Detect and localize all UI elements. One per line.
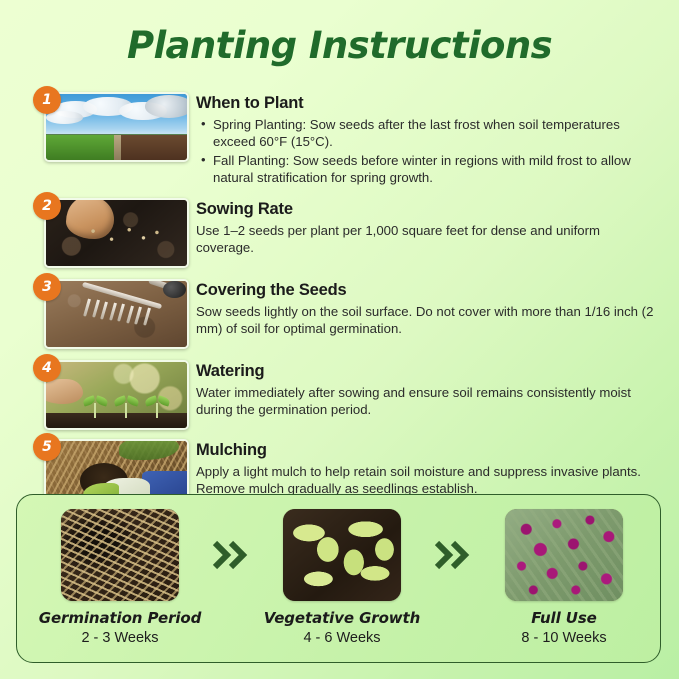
rake-on-soil-photo — [46, 281, 187, 347]
step-number-badge-3: 3 — [33, 273, 61, 301]
step-number-badge-1: 1 — [33, 86, 61, 114]
step-3-thumbnail-wrap: 3 — [44, 279, 196, 349]
step-number-badge-5: 5 — [33, 433, 61, 461]
timeline-stage-2: Vegetative Growth 4 - 6 Weeks — [257, 509, 427, 646]
step-1-text: When to Plant Spring Planting: Sow seeds… — [196, 92, 679, 188]
stage-1-duration: 2 - 3 Weeks — [35, 630, 205, 646]
step-item-1: 1 When t — [0, 92, 679, 188]
step-3-heading: Covering the Seeds — [196, 281, 657, 300]
step-item-3: 3 — [0, 279, 679, 349]
step-1-thumbnail-wrap: 1 — [44, 92, 196, 162]
step-1-image — [44, 92, 189, 162]
stage-2-image — [283, 509, 401, 601]
stage-3-duration: 8 - 10 Weeks — [479, 630, 649, 646]
page-title: Planting Instructions — [0, 24, 679, 67]
double-chevron-right-icon — [213, 539, 249, 571]
step-5-heading: Mulching — [196, 441, 657, 460]
step-item-2: 2 Sowing Rate Use 1–2 seeds per plant pe… — [0, 198, 679, 268]
step-4-thumbnail-wrap: 4 — [44, 360, 196, 430]
stage-1-label: Germination Period — [35, 609, 205, 627]
timeline-arrow-2 — [427, 509, 479, 601]
step-4-image — [44, 360, 189, 430]
step-3-image — [44, 279, 189, 349]
step-2-thumbnail-wrap: 2 — [44, 198, 196, 268]
stage-3-image — [505, 509, 623, 601]
step-1-bullets: Spring Planting: Sow seeds after the las… — [196, 116, 657, 187]
purple-flowers-photo — [505, 509, 623, 601]
step-2-heading: Sowing Rate — [196, 200, 657, 219]
stage-3-label: Full Use — [479, 609, 649, 627]
stage-2-label: Vegetative Growth — [257, 609, 427, 627]
step-5-body: Apply a light mulch to help retain soil … — [196, 463, 657, 498]
watering-seedlings-photo — [46, 362, 187, 428]
step-3-body: Sow seeds lightly on the soil surface. D… — [196, 303, 657, 338]
stage-1-image — [61, 509, 179, 601]
step-2-body: Use 1–2 seeds per plant per 1,000 square… — [196, 222, 657, 257]
step-4-heading: Watering — [196, 362, 657, 381]
stage-2-duration: 4 - 6 Weeks — [257, 630, 427, 646]
step-2-text: Sowing Rate Use 1–2 seeds per plant per … — [196, 198, 679, 257]
timeline-arrow-1 — [205, 509, 257, 601]
step-4-text: Watering Water immediately after sowing … — [196, 360, 679, 419]
step-3-text: Covering the Seeds Sow seeds lightly on … — [196, 279, 679, 338]
steps-list: 1 When t — [0, 92, 679, 509]
seedbed-mulch-photo — [61, 509, 179, 601]
bullet-item: Fall Planting: Sow seeds before winter i… — [213, 152, 657, 187]
step-1-heading: When to Plant — [196, 94, 657, 113]
bullet-item: Spring Planting: Sow seeds after the las… — [213, 116, 657, 151]
step-4-body: Water immediately after sowing and ensur… — [196, 384, 657, 419]
growth-timeline-panel: Germination Period 2 - 3 Weeks Vegetativ… — [16, 494, 661, 663]
young-seedlings-photo — [283, 509, 401, 601]
step-number-badge-2: 2 — [33, 192, 61, 220]
step-item-4: 4 Watering Water immediately after sowin… — [0, 360, 679, 430]
timeline-stage-3: Full Use 8 - 10 Weeks — [479, 509, 649, 646]
timeline-stage-1: Germination Period 2 - 3 Weeks — [35, 509, 205, 646]
hand-sowing-seeds-photo — [46, 200, 187, 266]
step-2-image — [44, 198, 189, 268]
field-landscape-photo — [46, 94, 187, 160]
step-number-badge-4: 4 — [33, 354, 61, 382]
double-chevron-right-icon — [435, 539, 471, 571]
planting-instructions-infographic: Planting Instructions 1 — [0, 0, 679, 679]
step-5-text: Mulching Apply a light mulch to help ret… — [196, 439, 679, 498]
